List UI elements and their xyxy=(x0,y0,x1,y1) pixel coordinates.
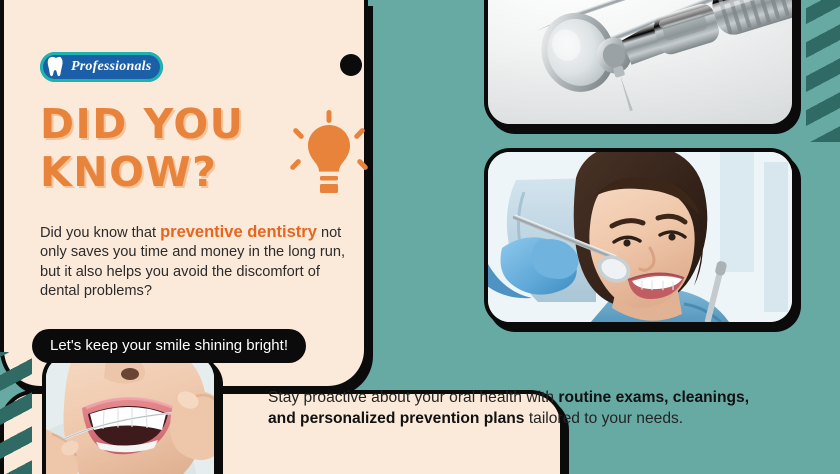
bottom-text-part1: Stay proactive about your oral health wi… xyxy=(268,389,558,406)
patient-illustration xyxy=(488,152,796,326)
patient-photo-card xyxy=(484,148,796,326)
patient-in-dental-chair-image xyxy=(488,152,792,322)
dental-tools-illustration xyxy=(488,0,796,128)
bottom-text-part2: tailored to your needs. xyxy=(524,410,683,427)
infographic-poster: Professionals Did you Know? Did you know… xyxy=(0,0,840,474)
flossing-teeth-image xyxy=(46,356,214,474)
fact-paragraph: Did you know that preventive dentistry n… xyxy=(40,223,362,302)
flossing-photo-card xyxy=(42,352,218,474)
dental-tools-photo-card xyxy=(484,0,796,128)
title-line-1: Did you xyxy=(40,100,280,148)
brand-name: Professionals xyxy=(71,59,151,75)
fact-lead: Did you know that xyxy=(40,225,156,241)
cta-pill-button[interactable]: Let's keep your smile shining bright! xyxy=(32,329,306,363)
title-line-2: Know? xyxy=(40,148,280,196)
phone-camera-dot xyxy=(340,54,362,76)
brand-logo-badge: Professionals xyxy=(40,52,163,82)
flossing-illustration xyxy=(46,356,218,474)
page-title: Did you Know? xyxy=(40,100,280,196)
fact-highlight: preventive dentistry xyxy=(160,223,317,241)
lightbulb-icon xyxy=(285,108,373,200)
tooth-icon xyxy=(46,56,66,78)
bottom-message-text: Stay proactive about your oral health wi… xyxy=(268,388,750,429)
dental-tools-image xyxy=(488,0,792,124)
diagonal-stripes-right xyxy=(806,0,840,142)
